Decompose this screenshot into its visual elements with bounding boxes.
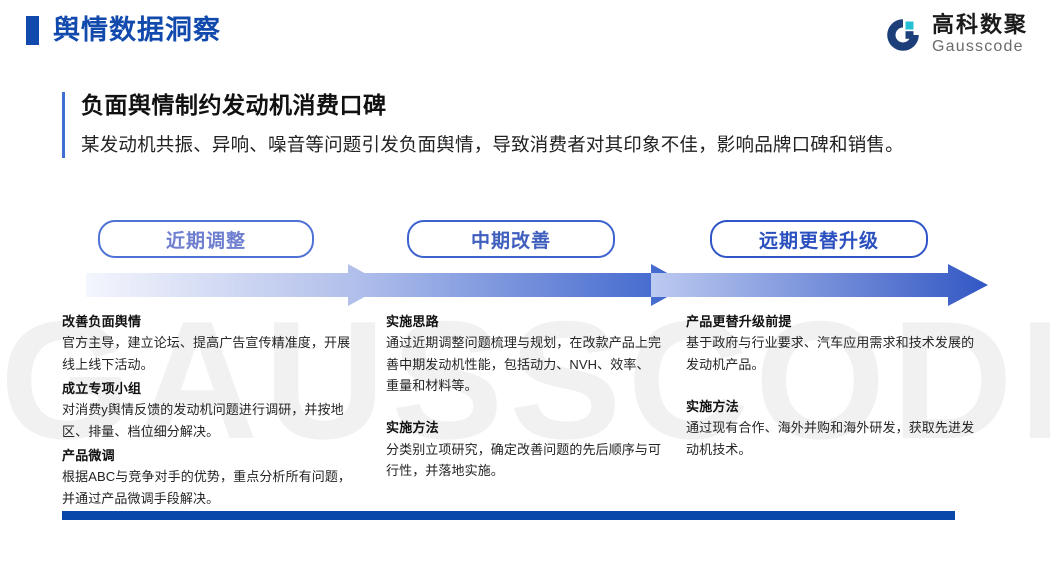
column-near-term: 改善负面舆情 官方主导，建立论坛、提高广告宣传精准度，开展线上线下活动。 成立专… — [62, 312, 386, 502]
headline-title: 负面舆情制约发动机消费口碑 — [81, 92, 1046, 120]
block-title: 成立专项小组 — [62, 379, 362, 399]
block-title: 产品更替升级前提 — [686, 312, 986, 332]
block-title: 实施方法 — [386, 418, 662, 438]
content-block: 产品微调 根据ABC与竞争对手的优势，重点分析所有问题，并通过产品微调手段解决。 — [62, 446, 362, 509]
block-body: 官方主导，建立论坛、提高广告宣传精准度，开展线上线下活动。 — [62, 332, 362, 375]
column-mid-term: 实施思路 通过近期调整问题梳理与规划，在改款产品上完善中期发动机性能，包括动力、… — [386, 312, 686, 502]
brand-name-cn: 高科数聚 — [932, 14, 1028, 36]
block-body: 根据ABC与竞争对手的优势，重点分析所有问题，并通过产品微调手段解决。 — [62, 466, 362, 509]
block-spacer — [686, 375, 986, 397]
gausscode-circle-mark-icon — [884, 16, 922, 54]
header-title-group: 舆情数据洞察 — [26, 16, 221, 45]
brand-name-en: Gausscode — [932, 39, 1028, 55]
content-block: 产品更替升级前提 基于政府与行业要求、汽车应用需求和技术发展的发动机产品。 — [686, 312, 986, 375]
block-body: 分类别立项研究，确定改善问题的先后顺序与可行性，并落地实施。 — [386, 439, 662, 482]
block-title: 改善负面舆情 — [62, 312, 362, 332]
content-block: 改善负面舆情 官方主导，建立论坛、提高广告宣传精准度，开展线上线下活动。 — [62, 312, 362, 375]
slide-header: 舆情数据洞察 高科数聚 Gausscode — [0, 0, 1050, 72]
column-long-term: 产品更替升级前提 基于政府与行业要求、汽车应用需求和技术发展的发动机产品。 实施… — [686, 312, 986, 502]
block-title: 实施思路 — [386, 312, 662, 332]
content-block: 实施方法 分类别立项研究，确定改善问题的先后顺序与可行性，并落地实施。 — [386, 418, 662, 481]
block-title: 产品微调 — [62, 446, 362, 466]
phase-pill-row: 近期调整 中期改善 远期更替升级 — [62, 220, 1022, 256]
progress-arrow-band — [86, 264, 988, 306]
block-spacer — [386, 396, 662, 418]
phase-pill-long-term[interactable]: 远期更替升级 — [710, 220, 928, 258]
content-columns: 改善负面舆情 官方主导，建立论坛、提高广告宣传精准度，开展线上线下活动。 成立专… — [62, 312, 1027, 502]
block-title: 实施方法 — [686, 397, 986, 417]
headline-subtitle: 某发动机共振、异响、噪音等问题引发负面舆情，导致消费者对其印象不佳，影响品牌口碑… — [81, 133, 1046, 158]
content-block: 实施思路 通过近期调整问题梳理与规划，在改款产品上完善中期发动机性能，包括动力、… — [386, 312, 662, 396]
bottom-accent-bar — [62, 511, 955, 520]
headline-block: 负面舆情制约发动机消费口碑 某发动机共振、异响、噪音等问题引发负面舆情，导致消费… — [62, 92, 1046, 158]
block-body: 通过近期调整问题梳理与规划，在改款产品上完善中期发动机性能，包括动力、NVH、效… — [386, 332, 662, 396]
content-block: 成立专项小组 对消费y舆情反馈的发动机问题进行调研，并按地区、排量、档位细分解决… — [62, 379, 362, 442]
header-marker-square — [26, 16, 39, 45]
phase-pill-mid-term[interactable]: 中期改善 — [407, 220, 615, 258]
block-body: 对消费y舆情反馈的发动机问题进行调研，并按地区、排量、档位细分解决。 — [62, 399, 362, 442]
brand-logo-text: 高科数聚 Gausscode — [932, 14, 1028, 55]
content-block: 实施方法 通过现有合作、海外并购和海外研发，获取先进发动机技术。 — [686, 397, 986, 460]
phase-pill-near-term[interactable]: 近期调整 — [98, 220, 314, 258]
slide-root: GAUSSCODE 舆情数据洞察 高科数聚 Gausscode 负面舆情制约发动… — [0, 0, 1050, 588]
block-body: 基于政府与行业要求、汽车应用需求和技术发展的发动机产品。 — [686, 332, 986, 375]
page-title: 舆情数据洞察 — [53, 17, 221, 44]
brand-logo: 高科数聚 Gausscode — [884, 14, 1028, 55]
block-body: 通过现有合作、海外并购和海外研发，获取先进发动机技术。 — [686, 417, 986, 460]
